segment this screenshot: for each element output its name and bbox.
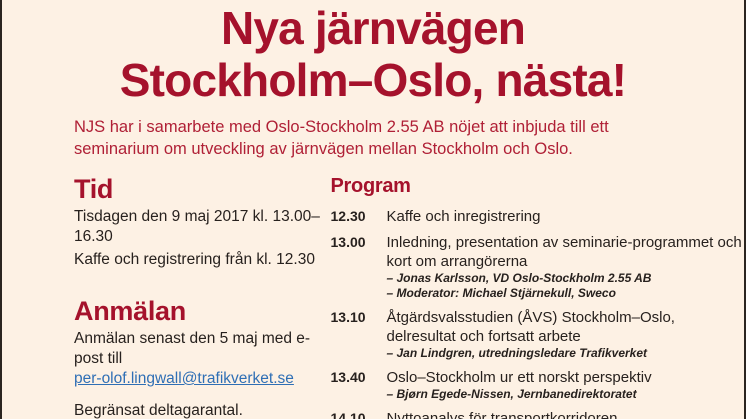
program-row-speaker: – Jan Lindgren, utredningsledare Trafikv… — [387, 346, 745, 361]
tid-line-2: Kaffe och registrering från kl. 12.30 — [74, 250, 321, 270]
program-row-body: Kaffe och inregistrering — [387, 207, 745, 226]
poster-title-block: Nya järnvägen Stockholm–Oslo, nästa! — [2, 0, 744, 106]
program-row: 13.40Oslo–Stockholm ur ett norskt perspe… — [331, 368, 745, 402]
program-row-body: Åtgärdsvalsstudien (ÅVS) Stockholm–Oslo,… — [387, 308, 745, 361]
program-row-title: Åtgärdsvalsstudien (ÅVS) Stockholm–Oslo,… — [387, 308, 745, 346]
program-row: 14.10Nyttoanalys för transportkorridoren… — [331, 409, 745, 419]
right-column: Program 12.30Kaffe och inregistrering13.… — [321, 174, 745, 419]
section-spacer — [74, 270, 321, 296]
program-row-time: 13.10 — [331, 308, 387, 361]
poster-title-line-1: Nya järnvägen — [2, 2, 744, 54]
program-row: 12.30Kaffe och inregistrering — [331, 207, 745, 226]
program-row-speaker: – Moderator: Michael Stjärnekull, Sweco — [387, 286, 745, 301]
anmalan-email-link[interactable]: per-olof.lingwall@trafikverket.se — [74, 369, 294, 389]
program-row-speaker: – Bjørn Egede-Nissen, Jernbanedirektorat… — [387, 387, 745, 402]
program-row-time: 12.30 — [331, 207, 387, 226]
poster-columns: Tid Tisdagen den 9 maj 2017 kl. 13.00–16… — [2, 160, 744, 419]
program-row: 13.00Inledning, presentation av seminari… — [331, 233, 745, 301]
seminar-poster: Nya järnvägen Stockholm–Oslo, nästa! NJS… — [0, 0, 746, 419]
anmalan-section: Anmälan Anmälan senast den 5 maj med e-p… — [74, 296, 321, 419]
program-row-body: Nyttoanalys för transportkorridoren, — [387, 409, 745, 419]
anmalan-heading: Anmälan — [74, 296, 321, 326]
tid-section: Tid Tisdagen den 9 maj 2017 kl. 13.00–16… — [74, 174, 321, 270]
left-column: Tid Tisdagen den 9 maj 2017 kl. 13.00–16… — [2, 174, 321, 419]
program-row-speaker: – Jonas Karlsson, VD Oslo-Stockholm 2.55… — [387, 271, 745, 286]
program-row-time: 14.10 — [331, 409, 387, 419]
program-list: 12.30Kaffe och inregistrering13.00Inledn… — [331, 207, 745, 419]
program-row-time: 13.40 — [331, 368, 387, 402]
program-row-body: Inledning, presentation av seminarie-pro… — [387, 233, 745, 301]
poster-title-line-2: Stockholm–Oslo, nästa! — [2, 54, 744, 106]
program-row-title: Nyttoanalys för transportkorridoren, — [387, 409, 745, 419]
program-row: 13.10Åtgärdsvalsstudien (ÅVS) Stockholm–… — [331, 308, 745, 361]
program-heading: Program — [331, 174, 745, 198]
anmalan-line-1: Anmälan senast den 5 maj med e-post till — [74, 329, 321, 369]
program-row-title: Oslo–Stockholm ur ett norskt perspektiv — [387, 368, 745, 387]
tid-line-1: Tisdagen den 9 maj 2017 kl. 13.00–16.30 — [74, 207, 321, 247]
program-row-body: Oslo–Stockholm ur ett norskt perspektiv–… — [387, 368, 745, 402]
poster-intro-paragraph: NJS har i samarbete med Oslo-Stockholm 2… — [2, 106, 744, 160]
program-row-title: Kaffe och inregistrering — [387, 207, 745, 226]
program-row-time: 13.00 — [331, 233, 387, 301]
anmalan-line-2: Begränsat deltagarantal. — [74, 401, 321, 419]
program-row-title: Inledning, presentation av seminarie-pro… — [387, 233, 745, 271]
tid-heading: Tid — [74, 174, 321, 204]
